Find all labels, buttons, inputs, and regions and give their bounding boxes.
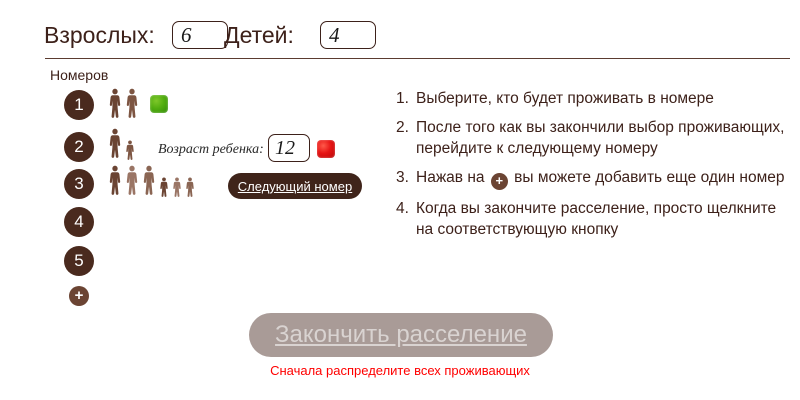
person-child-icon <box>159 177 169 201</box>
person-adult-icon <box>125 165 139 201</box>
status-indicator-error[interactable] <box>317 140 335 158</box>
person-adult-icon <box>142 165 156 201</box>
instruction-text: Когда вы закончите расселение, просто ще… <box>416 198 788 240</box>
person-child-icon <box>185 177 195 201</box>
header-bar: Взрослых: Детей: <box>0 0 800 58</box>
instruction-item: 3.Нажав на + вы можете добавить еще один… <box>396 167 788 190</box>
instruction-text: Нажав на + вы можете добавить еще один н… <box>416 167 788 190</box>
finish-error-message: Сначала распределите всех проживающих <box>0 363 800 378</box>
children-input[interactable] <box>320 21 376 49</box>
adults-input[interactable] <box>172 21 228 49</box>
person-adult-icon <box>125 88 139 124</box>
person-child-icon <box>125 140 135 164</box>
adults-label: Взрослых: <box>44 22 155 49</box>
room-button-5[interactable]: 5 <box>64 246 94 276</box>
occupants-row-3[interactable] <box>108 163 195 201</box>
occupants-row-2[interactable] <box>108 126 135 164</box>
instruction-number: 2. <box>396 117 416 159</box>
occupants-row-1[interactable] <box>108 86 139 124</box>
next-room-button[interactable]: Следующий номер <box>228 173 362 199</box>
child-age-label: Возраст ребенка: <box>158 142 264 158</box>
person-child-icon <box>172 177 182 201</box>
header-divider <box>45 58 790 59</box>
status-indicator-ok[interactable] <box>150 95 168 113</box>
children-label: Детей: <box>224 22 294 49</box>
instruction-text: Выберите, кто будет проживать в номере <box>416 88 788 109</box>
room-button-1[interactable]: 1 <box>64 90 94 120</box>
room-button-2[interactable]: 2 <box>64 132 94 162</box>
child-age-input[interactable] <box>268 134 310 162</box>
rooms-caption: Номеров <box>50 67 108 83</box>
room-button-3[interactable]: 3 <box>64 169 94 199</box>
instruction-number: 1. <box>396 88 416 109</box>
instruction-number: 4. <box>396 198 416 240</box>
instruction-text: После того как вы закончили выбор прожив… <box>416 117 788 159</box>
person-adult-icon <box>108 165 122 201</box>
person-adult-icon <box>108 128 122 164</box>
instruction-item: 1.Выберите, кто будет проживать в номере <box>396 88 788 109</box>
instruction-number: 3. <box>396 167 416 190</box>
room-button-4[interactable]: 4 <box>64 207 94 237</box>
plus-icon: + <box>491 173 508 190</box>
person-adult-icon <box>108 88 122 124</box>
add-room-plus-icon[interactable]: + <box>69 286 89 306</box>
instructions-list: 1.Выберите, кто будет проживать в номере… <box>396 88 788 248</box>
instruction-item: 2.После того как вы закончили выбор прож… <box>396 117 788 159</box>
instruction-item: 4.Когда вы закончите расселение, просто … <box>396 198 788 240</box>
finish-allocation-button[interactable]: Закончить расселение <box>249 313 553 357</box>
